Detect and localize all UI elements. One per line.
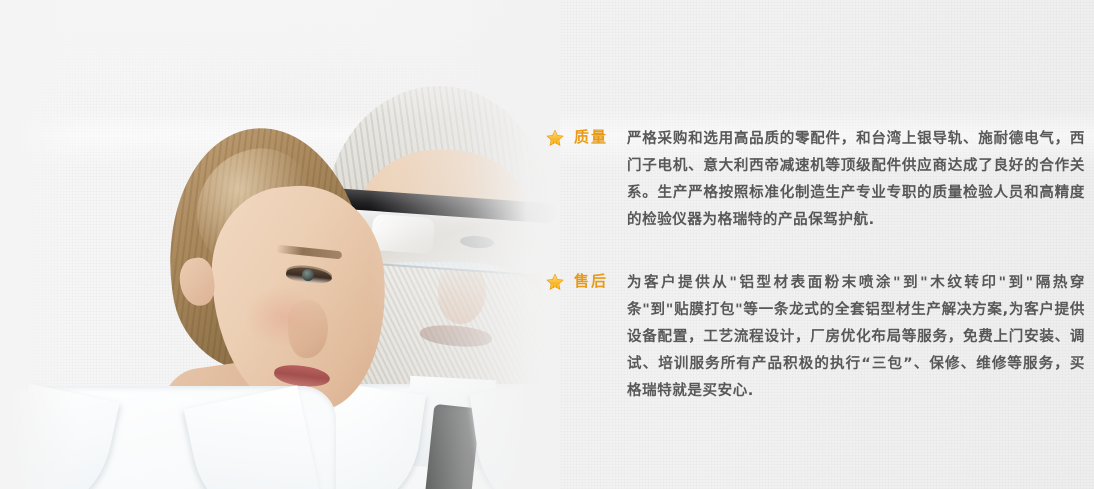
star-icon bbox=[545, 272, 565, 292]
feature-list: 质量 严格采购和选用高品质的零配件，和台湾上银导轨、施耐德电气，西门子电机、意大… bbox=[545, 126, 1085, 405]
feature-title-after-sales: 售后 bbox=[574, 271, 608, 292]
female-researcher-iris bbox=[302, 269, 314, 281]
promo-banner: 质量 严格采购和选用高品质的零配件，和台湾上银导轨、施耐德电气，西门子电机、意大… bbox=[0, 0, 1094, 489]
feature-heading-after-sales: 售后 bbox=[545, 270, 627, 292]
researchers-photo bbox=[0, 0, 560, 489]
photo-subjects bbox=[0, 0, 560, 489]
feature-heading-quality: 质量 bbox=[545, 126, 627, 148]
safety-goggles-glint bbox=[371, 214, 435, 254]
star-icon bbox=[545, 128, 565, 148]
feature-body-quality: 严格采购和选用高品质的零配件，和台湾上银导轨、施耐德电气，西门子电机、意大利西帝… bbox=[627, 126, 1085, 234]
feature-title-quality: 质量 bbox=[574, 127, 608, 148]
feature-item-quality: 质量 严格采购和选用高品质的零配件，和台湾上银导轨、施耐德电气，西门子电机、意大… bbox=[545, 126, 1085, 234]
feature-item-after-sales: 售后 为客户提供从"铝型材表面粉末喷涂"到"木纹转印"到"隔热穿条"到"贴膜打包… bbox=[545, 270, 1085, 405]
feature-body-after-sales: 为客户提供从"铝型材表面粉末喷涂"到"木纹转印"到"隔热穿条"到"贴膜打包"等一… bbox=[627, 270, 1085, 405]
